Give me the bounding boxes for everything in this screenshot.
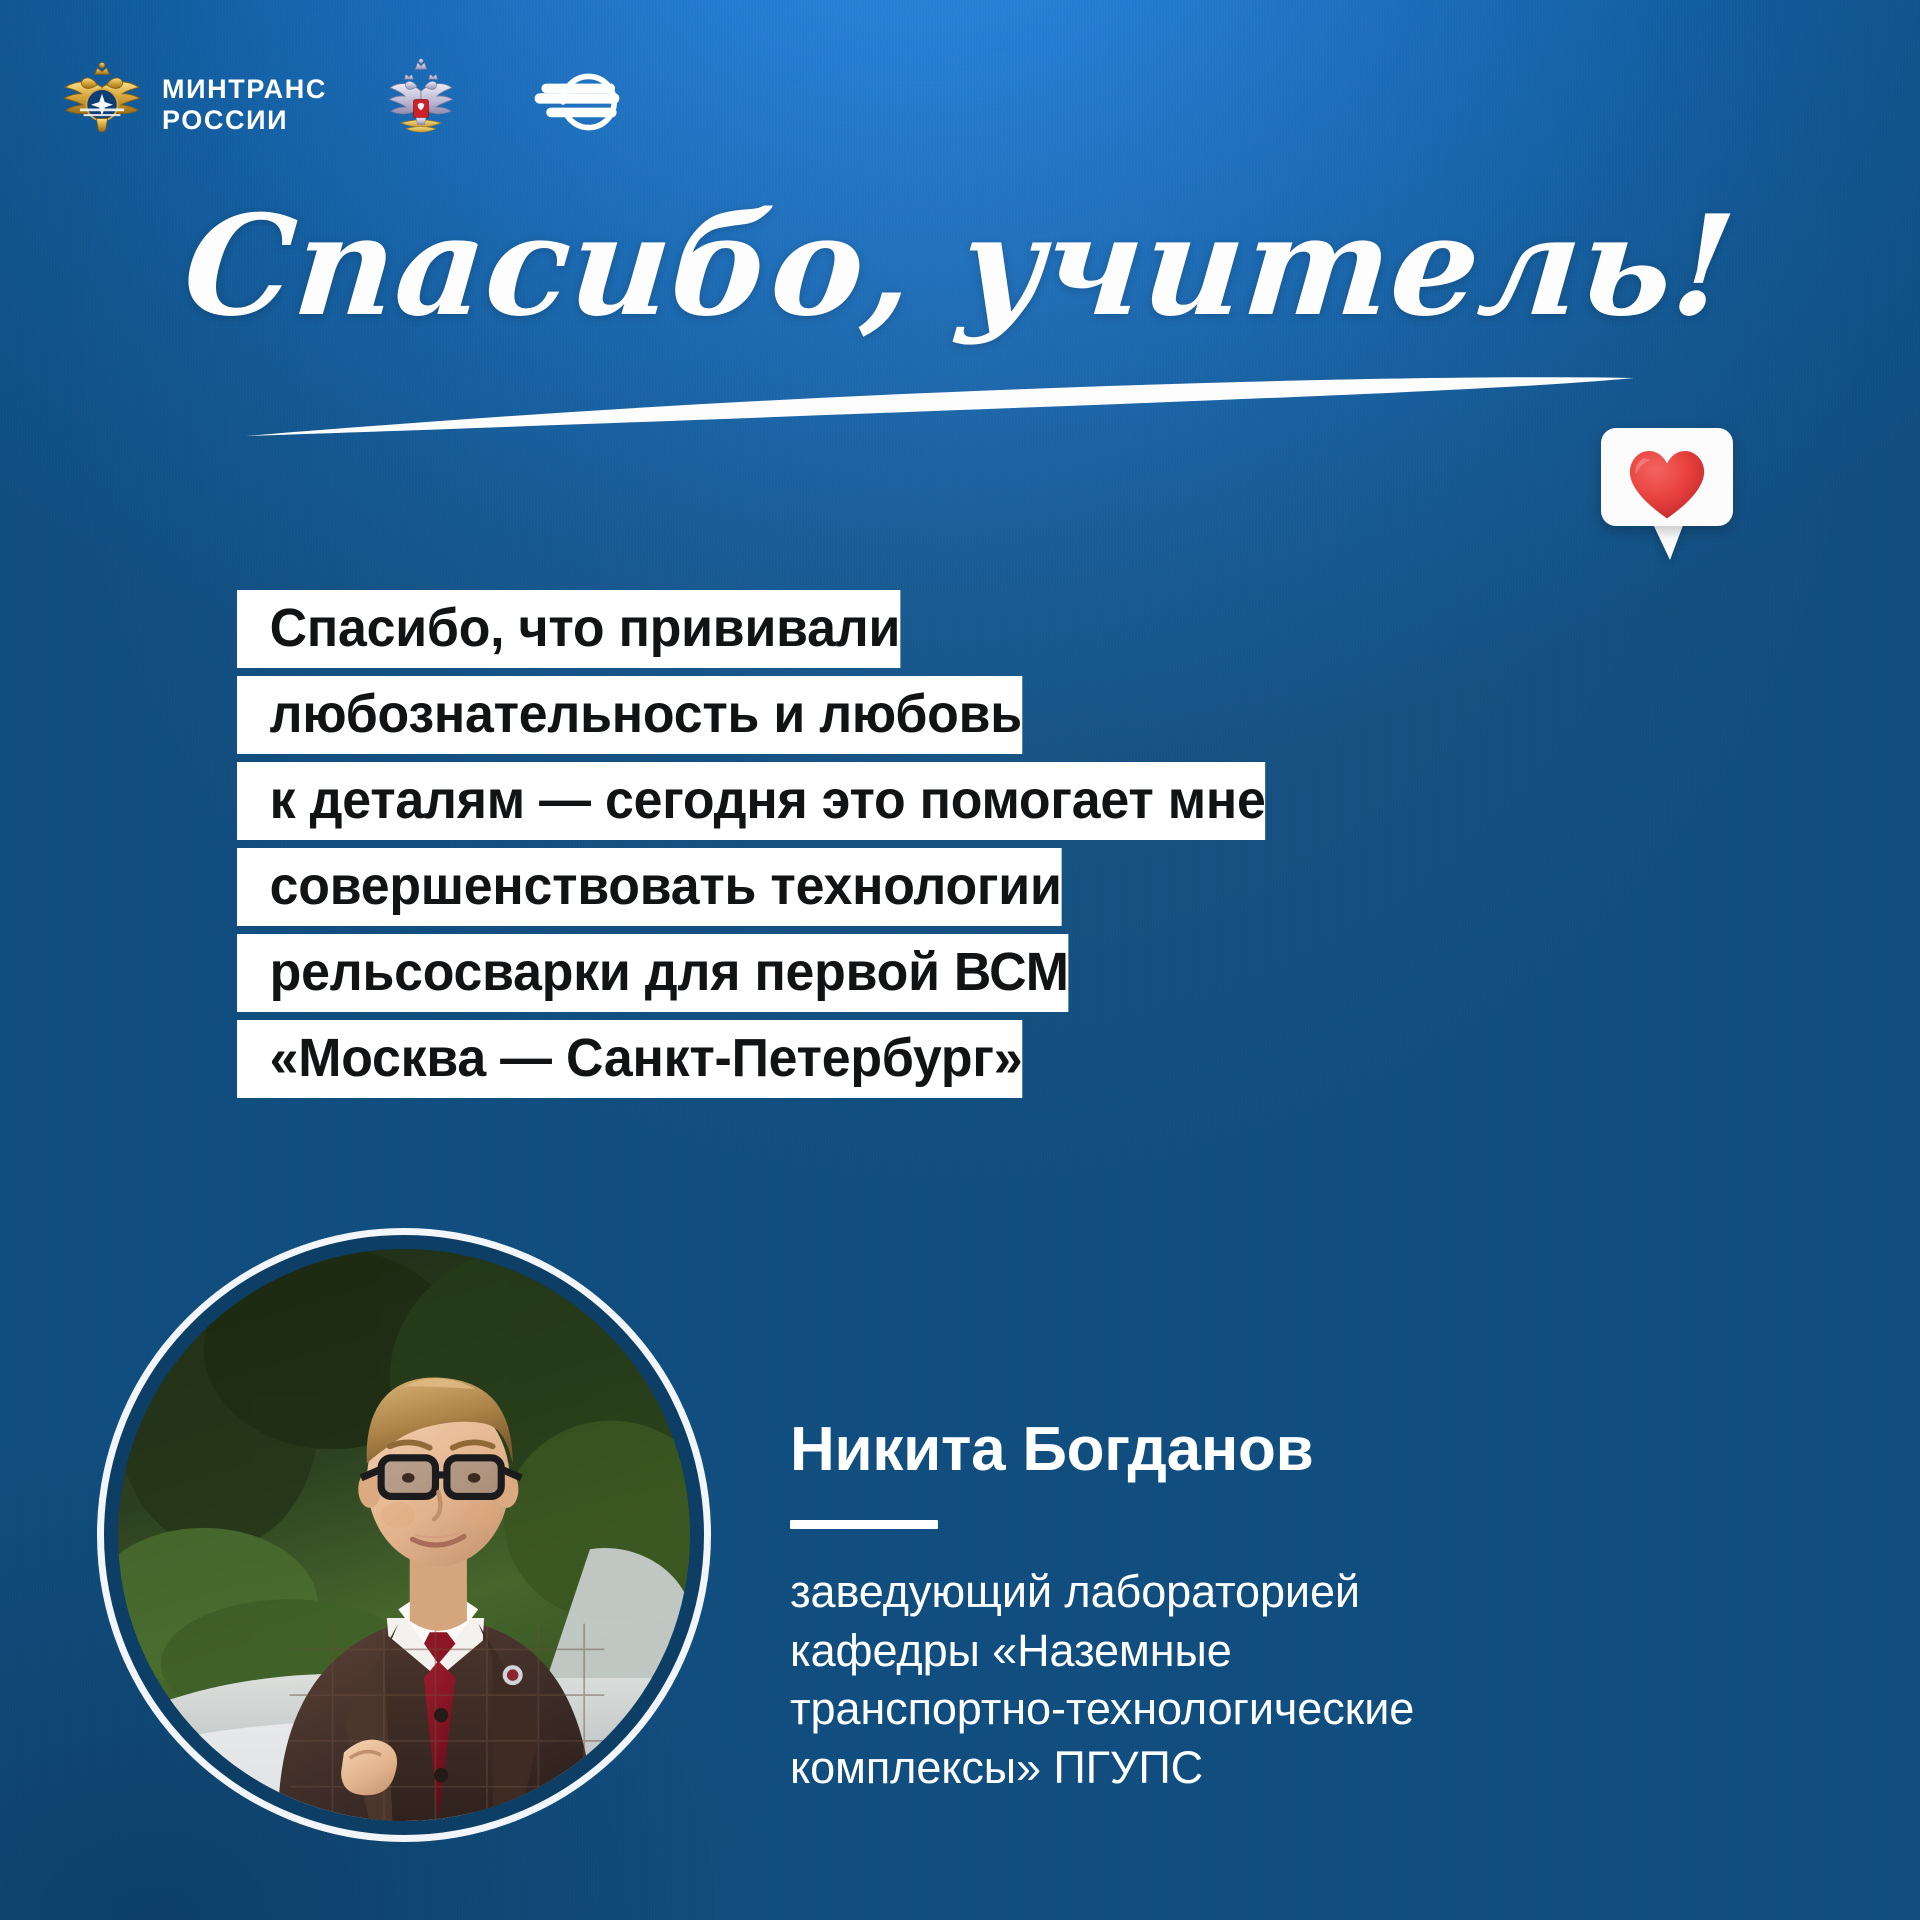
quote-row: любознательность и любовь	[237, 676, 1685, 762]
heart-emoji-speech-bubble	[1601, 428, 1733, 548]
quote-line: «Москва — Санкт-Петербург»	[237, 1020, 1022, 1098]
name-divider	[790, 1520, 938, 1529]
quote-line: Спасибо, что прививали	[237, 590, 900, 668]
quote-line: любознательность и любовь	[237, 676, 1022, 754]
mintrans-label-line2: РОССИИ	[162, 105, 288, 135]
double-headed-eagle-emblem-icon	[56, 56, 148, 153]
person-info: Никита Богданов заведующий лабораторией …	[790, 1418, 1670, 1797]
quote-line: к деталям — сегодня это помогает мне	[237, 762, 1266, 840]
mintrans-logo: МИНТРАНСРОССИИ	[56, 56, 327, 153]
quote-line: рельсосварки для первой ВСМ	[237, 934, 1069, 1012]
portrait-photo	[118, 1249, 690, 1821]
quote-block: Спасибо, что прививали любознательность …	[237, 590, 1685, 1106]
avatar	[97, 1228, 711, 1842]
russian-coat-of-arms-logo	[379, 56, 463, 153]
bubble-tail-icon	[1651, 520, 1685, 560]
person-role: заведующий лабораторией кафедры «Наземны…	[790, 1563, 1670, 1797]
person-name: Никита Богданов	[790, 1418, 1670, 1482]
mintrans-label-line1: МИНТРАНС	[162, 74, 327, 104]
page-title: Спасибо, учитель!	[179, 196, 1740, 337]
russian-coat-of-arms-emblem-icon	[379, 56, 463, 153]
winged-circle-railway-logo-icon	[527, 58, 631, 151]
roszheldor-logo	[527, 58, 631, 151]
quote-line: совершенствовать технологии	[237, 848, 1062, 926]
quote-row: рельсосварки для первой ВСМ	[237, 934, 1685, 1020]
logo-row: МИНТРАНСРОССИИ	[56, 56, 631, 153]
poster-canvas: МИНТРАНСРОССИИ	[0, 0, 1920, 1920]
quote-row: к деталям — сегодня это помогает мне	[237, 762, 1685, 848]
quote-row: совершенствовать технологии	[237, 848, 1685, 934]
mintrans-label: МИНТРАНСРОССИИ	[162, 74, 327, 134]
headline-block: Спасибо, учитель!	[0, 196, 1920, 337]
heart-icon	[1622, 444, 1712, 522]
quote-row: «Москва — Санкт-Петербург»	[237, 1020, 1685, 1106]
headline-swoosh-underline	[240, 352, 1640, 442]
quote-row: Спасибо, что прививали	[237, 590, 1685, 676]
